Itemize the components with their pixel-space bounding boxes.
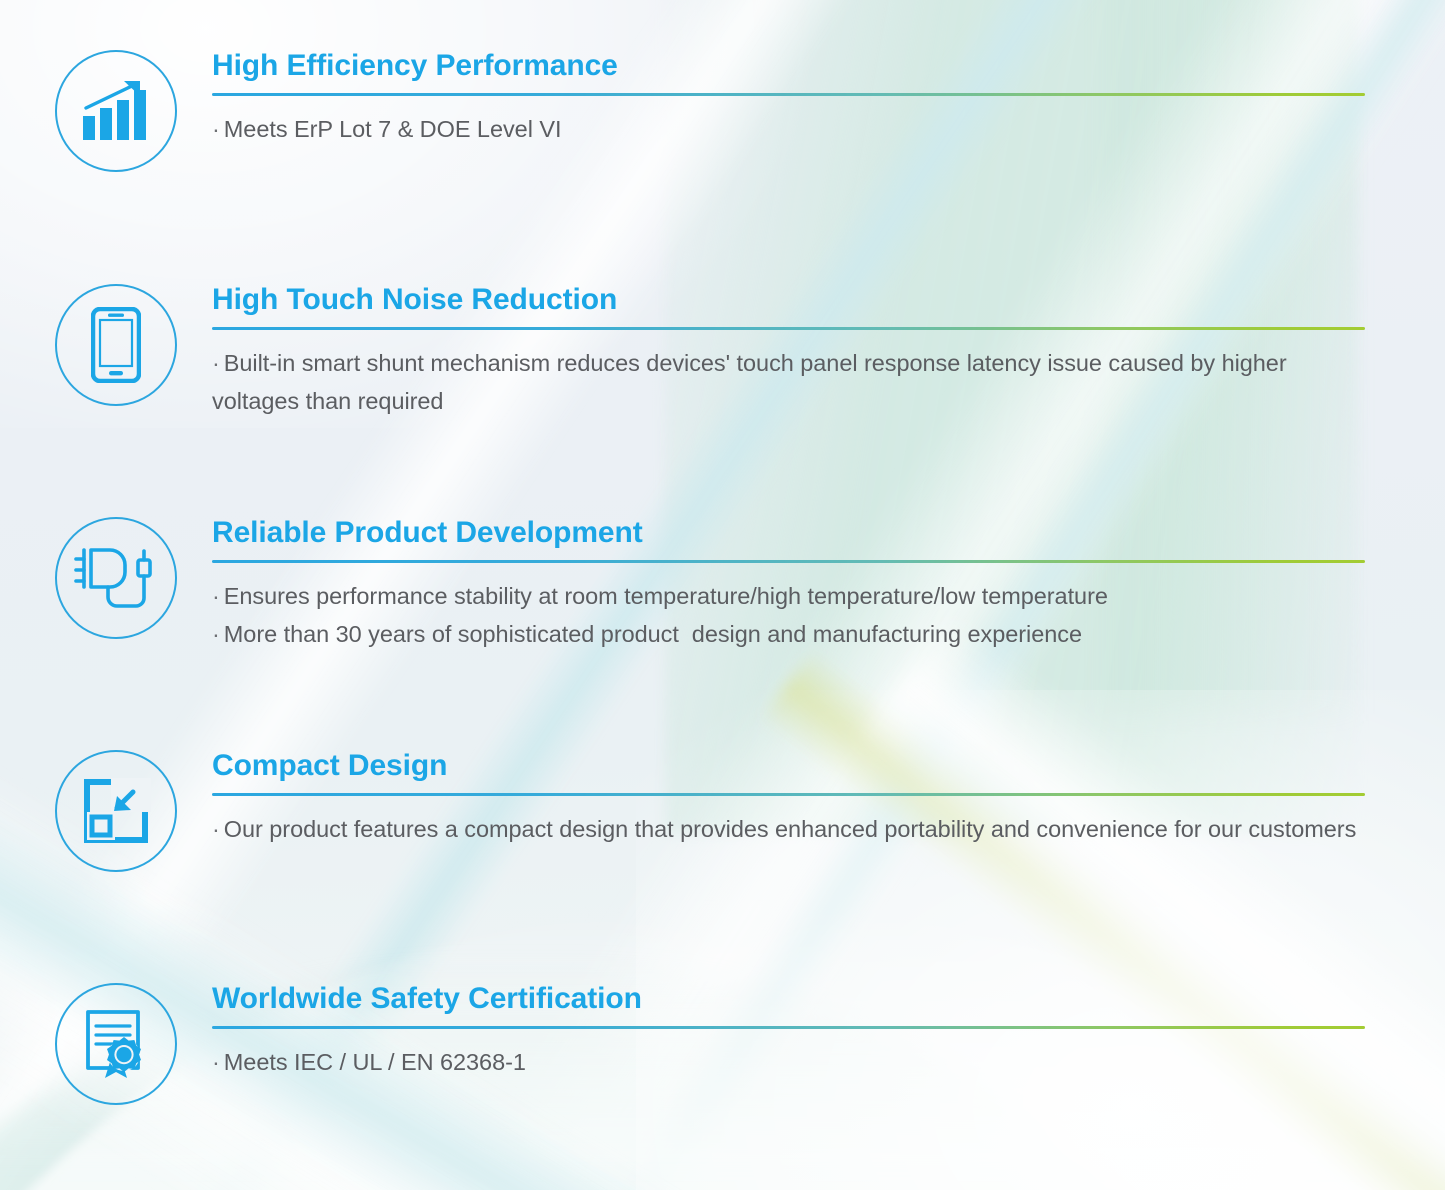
bullet-glyph: · xyxy=(212,583,220,609)
feature-title: Worldwide Safety Certification xyxy=(212,983,1367,1015)
feature-title: High Touch Noise Reduction xyxy=(212,284,1367,316)
bullet-glyph: · xyxy=(212,621,220,647)
feature-bullet-line: ·Built-in smart shunt mechanism reduces … xyxy=(212,344,1367,421)
feature-bullet-line: ·More than 30 years of sophisticated pro… xyxy=(212,615,1367,653)
feature-body: Worldwide Safety Certification ·Meets IE… xyxy=(212,983,1367,1081)
bar-chart-growth-icon xyxy=(55,50,177,172)
feature-divider xyxy=(212,1026,1365,1029)
feature-lines: ·Built-in smart shunt mechanism reduces … xyxy=(212,344,1367,421)
compact-resize-icon xyxy=(55,750,177,872)
feature-divider xyxy=(212,327,1365,330)
bullet-glyph: · xyxy=(212,116,220,142)
feature-icon-wrap xyxy=(55,517,177,639)
bullet-glyph: · xyxy=(212,350,220,376)
feature-bullet-line: ·Meets IEC / UL / EN 62368-1 xyxy=(212,1043,1367,1081)
feature-line-text: Built-in smart shunt mechanism reduces d… xyxy=(212,350,1293,414)
feature-lines: ·Ensures performance stability at room t… xyxy=(212,577,1367,654)
feature-divider xyxy=(212,560,1365,563)
smartphone-icon xyxy=(55,284,177,406)
feature-line-text: More than 30 years of sophisticated prod… xyxy=(224,621,1082,647)
feature-body: Reliable Product Development ·Ensures pe… xyxy=(212,517,1367,654)
feature-icon-wrap xyxy=(55,284,177,406)
feature-body: High Touch Noise Reduction ·Built-in sma… xyxy=(212,284,1367,421)
bullet-glyph: · xyxy=(212,816,220,842)
feature-title: Reliable Product Development xyxy=(212,517,1367,549)
feature-divider xyxy=(212,93,1365,96)
bullet-glyph: · xyxy=(212,1049,220,1075)
feature-list: High Efficiency Performance ·Meets ErP L… xyxy=(0,0,1445,1190)
feature-line-text: Meets ErP Lot 7 & DOE Level VI xyxy=(224,116,562,142)
feature-line-text: Ensures performance stability at room te… xyxy=(224,583,1108,609)
power-adapter-icon xyxy=(55,517,177,639)
feature-lines: ·Meets ErP Lot 7 & DOE Level VI xyxy=(212,110,1367,148)
feature-title: Compact Design xyxy=(212,750,1367,782)
feature-line-text: Meets IEC / UL / EN 62368-1 xyxy=(224,1049,526,1075)
feature-body: High Efficiency Performance ·Meets ErP L… xyxy=(212,50,1367,148)
feature-lines: ·Our product features a compact design t… xyxy=(212,810,1367,848)
feature-divider xyxy=(212,793,1365,796)
feature-bullet-line: ·Ensures performance stability at room t… xyxy=(212,577,1367,615)
certificate-seal-icon xyxy=(55,983,177,1105)
feature-bullet-line: ·Our product features a compact design t… xyxy=(212,810,1367,848)
feature-body: Compact Design ·Our product features a c… xyxy=(212,750,1367,848)
feature-lines: ·Meets IEC / UL / EN 62368-1 xyxy=(212,1043,1367,1081)
feature-icon-wrap xyxy=(55,50,177,172)
feature-title: High Efficiency Performance xyxy=(212,50,1367,82)
feature-bullet-line: ·Meets ErP Lot 7 & DOE Level VI xyxy=(212,110,1367,148)
feature-icon-wrap xyxy=(55,983,177,1105)
feature-icon-wrap xyxy=(55,750,177,872)
feature-line-text: Our product features a compact design th… xyxy=(224,816,1357,842)
